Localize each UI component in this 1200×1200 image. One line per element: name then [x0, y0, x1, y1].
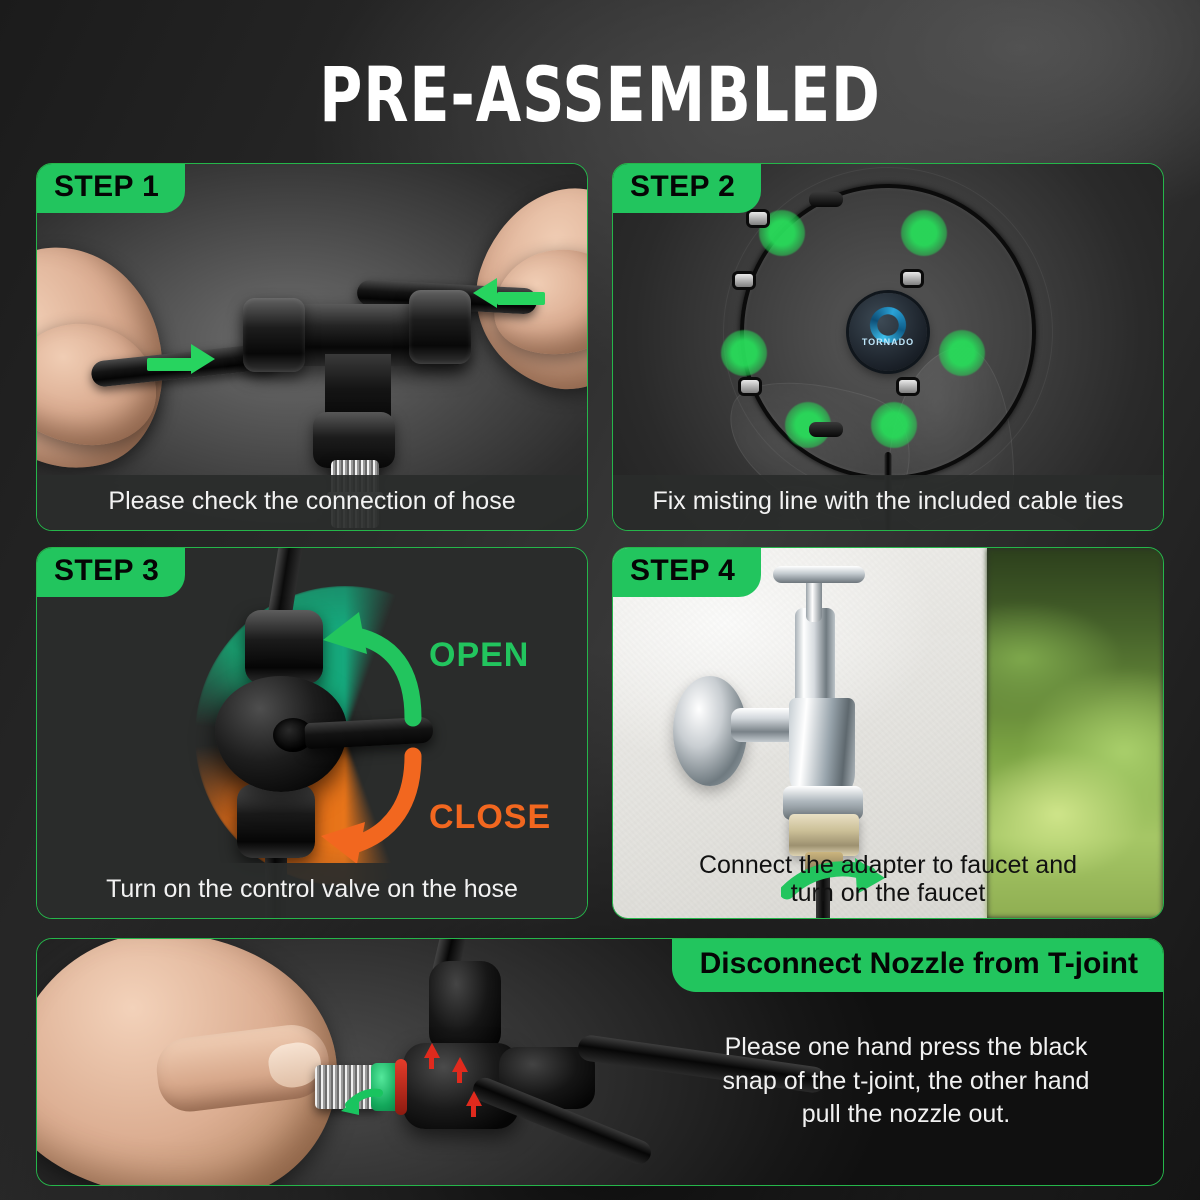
ring-nozzle: [749, 212, 767, 225]
bottom-banner-title: Disconnect Nozzle from T-joint: [672, 938, 1164, 992]
bottom-body-line-3: pull the nozzle out.: [671, 1098, 1141, 1132]
t-joint-collar-right: [409, 290, 471, 364]
bottom-body-text: Please one hand press the black snap of …: [671, 1031, 1141, 1132]
page-title: PRE-ASSEMBLED: [84, 50, 1116, 139]
step-4-caption-line-2: turn on the faucet: [623, 879, 1153, 908]
close-label: CLOSE: [429, 798, 551, 837]
red-arrow-icon: [424, 1043, 440, 1058]
t-joint-collar-left: [243, 298, 305, 372]
step-4-caption-line-1: Connect the adapter to faucet and: [623, 851, 1153, 880]
faucet-handle[interactable]: [773, 566, 865, 583]
snap-red-ring: [395, 1059, 407, 1115]
red-arrow-icon: [466, 1091, 482, 1106]
cable-tie-highlight: [871, 402, 917, 448]
ring-nozzle: [735, 274, 753, 287]
step-3-caption: Turn on the control valve on the hose: [37, 863, 587, 918]
step-1-caption: Please check the connection of hose: [37, 475, 587, 530]
step-1-panel: STEP 1 Please check the connection of ho…: [36, 163, 588, 531]
bottom-body-line-2: snap of the t-joint, the other hand: [671, 1065, 1141, 1099]
cable-tie-highlight: [939, 330, 985, 376]
snap-arrow-tail: [457, 1071, 462, 1083]
arrow-right-tail: [147, 358, 195, 371]
ring-nozzle: [899, 380, 917, 393]
green-arrow-left-icon: [473, 278, 497, 308]
snap-arrow-tail: [429, 1057, 434, 1069]
step-3-badge: STEP 3: [36, 547, 185, 597]
ring-t-joint: [809, 422, 843, 437]
arrow-left-tail: [497, 292, 545, 305]
bottom-body-line-1: Please one hand press the black: [671, 1031, 1141, 1065]
close-arrow-icon: [305, 746, 435, 866]
ring-t-joint: [809, 192, 843, 207]
cable-tie-highlight: [901, 210, 947, 256]
step-2-caption: Fix misting line with the included cable…: [613, 475, 1163, 530]
ring-nozzle: [903, 272, 921, 285]
snap-arrow-tail: [471, 1105, 476, 1117]
bottom-panel: Disconnect Nozzle from T-joint Please on…: [36, 938, 1164, 1186]
pull-arrow-icon: [337, 1085, 383, 1119]
green-arrow-right-icon: [191, 344, 215, 374]
step-2-badge: STEP 2: [612, 163, 761, 213]
t-joint-upper-arm: [429, 961, 501, 1053]
poster-root: PRE-ASSEMBLED STEP 1 Please check the co…: [0, 0, 1200, 1200]
step-1-badge: STEP 1: [36, 163, 185, 213]
step-2-panel: TORNADO STEP 2 Fix misting line with the…: [612, 163, 1164, 531]
red-arrow-icon: [452, 1057, 468, 1072]
cable-tie-highlight: [721, 330, 767, 376]
open-label: OPEN: [429, 636, 529, 675]
step-4-caption: Connect the adapter to faucet and turn o…: [613, 839, 1163, 919]
step-4-badge: STEP 4: [612, 547, 761, 597]
step-4-panel: STEP 4 Connect the adapter to faucet and…: [612, 547, 1164, 919]
step-3-panel: OPEN CLOSE STEP 3 Turn on the control va…: [36, 547, 588, 919]
ring-nozzle: [741, 380, 759, 393]
valve-collar-bottom: [237, 784, 315, 858]
open-arrow-icon: [309, 610, 439, 730]
